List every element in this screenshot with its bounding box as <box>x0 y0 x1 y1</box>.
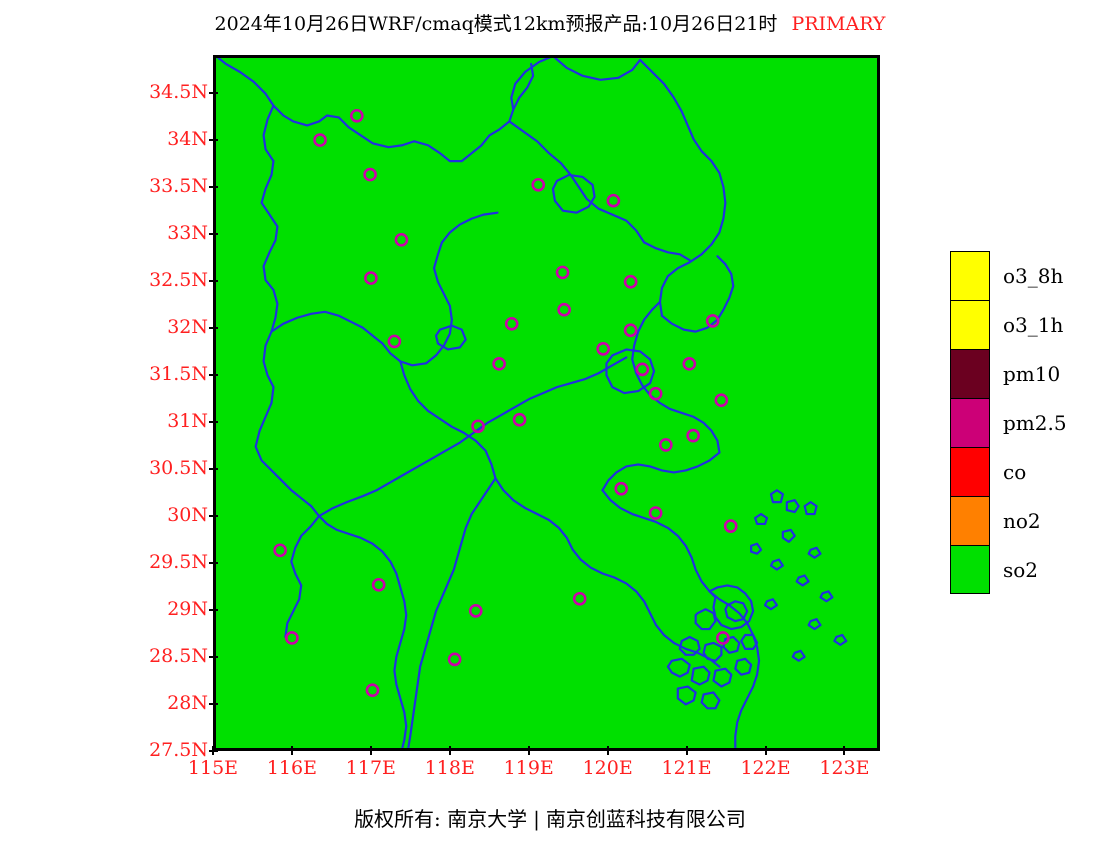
legend-color-swatch <box>950 496 990 545</box>
map-background <box>216 58 877 748</box>
x-axis-tick-mark <box>370 746 372 755</box>
x-axis-tick-mark <box>843 746 845 755</box>
map-svg <box>216 58 877 748</box>
legend-item-o38h[interactable]: o3_8h <box>950 251 1100 300</box>
x-axis-tick-mark <box>607 746 609 755</box>
pollutant-legend[interactable]: o3_8ho3_1hpm10pm2.5cono2so2 <box>950 251 1100 594</box>
footer-right-text: 南京创蓝科技有限公司 <box>546 807 746 831</box>
y-axis-tick-label: 31N <box>136 412 208 431</box>
legend-label: no2 <box>1003 511 1041 531</box>
x-axis-tick-mark <box>686 746 688 755</box>
x-axis-tick-label: 123E <box>799 757 889 779</box>
x-axis-tick-label: 122E <box>721 757 811 779</box>
legend-color-swatch <box>950 398 990 447</box>
x-axis-tick-label: 119E <box>484 757 574 779</box>
x-axis-tick-mark <box>291 746 293 755</box>
y-axis-tick-label: 33N <box>136 224 208 243</box>
map-plot-area[interactable] <box>213 55 880 751</box>
x-axis-tick-mark <box>765 746 767 755</box>
y-axis-tick-label: 30.5N <box>136 459 208 478</box>
legend-item-pm10[interactable]: pm10 <box>950 349 1100 398</box>
y-axis-tick-label: 31.5N <box>136 365 208 384</box>
y-axis-tick-mark <box>209 327 218 329</box>
figure-canvas: 2024年10月26日WRF/cmaq模式12km预报产品:10月26日21时P… <box>0 0 1100 850</box>
y-axis-tick-label: 29N <box>136 600 208 619</box>
y-axis-tick-mark <box>209 92 218 94</box>
y-axis-tick-label: 33.5N <box>136 177 208 196</box>
legend-color-swatch <box>950 545 990 594</box>
legend-label: o3_1h <box>1003 315 1063 335</box>
y-axis-tick-label: 28N <box>136 694 208 713</box>
y-axis-tick-mark <box>209 703 218 705</box>
y-axis-tick-label: 30N <box>136 506 208 525</box>
footer-left-text: 版权所有: 南京大学 <box>354 807 527 831</box>
x-axis-tick-mark <box>528 746 530 755</box>
legend-color-swatch <box>950 300 990 349</box>
y-axis-tick-label: 28.5N <box>136 647 208 666</box>
legend-item-pm25[interactable]: pm2.5 <box>950 398 1100 447</box>
y-axis-tick-mark <box>209 233 218 235</box>
legend-label: so2 <box>1003 560 1038 580</box>
x-axis-tick-label: 118E <box>405 757 495 779</box>
legend-item-co[interactable]: co <box>950 447 1100 496</box>
x-axis-tick-label: 121E <box>642 757 732 779</box>
legend-color-swatch <box>950 447 990 496</box>
legend-item-o31h[interactable]: o3_1h <box>950 300 1100 349</box>
y-axis-tick-label: 32N <box>136 318 208 337</box>
legend-label: o3_8h <box>1003 266 1063 286</box>
y-axis-tick-label: 34.5N <box>136 83 208 102</box>
copyright-footer: 版权所有: 南京大学|南京创蓝科技有限公司 <box>0 806 1100 832</box>
legend-item-so2[interactable]: so2 <box>950 545 1100 594</box>
title-main-text: 2024年10月26日WRF/cmaq模式12km预报产品:10月26日21时 <box>215 13 778 35</box>
y-axis-tick-mark <box>209 374 218 376</box>
legend-label: pm2.5 <box>1003 413 1067 433</box>
y-axis-tick-mark <box>209 139 218 141</box>
y-axis-tick-mark <box>209 562 218 564</box>
x-axis-tick-mark <box>212 746 214 755</box>
x-axis-tick-label: 120E <box>563 757 653 779</box>
y-axis-tick-mark <box>209 280 218 282</box>
footer-separator: | <box>527 806 546 832</box>
legend-label: co <box>1003 462 1026 482</box>
y-axis-tick-label: 29.5N <box>136 553 208 572</box>
y-axis-tick-mark <box>209 186 218 188</box>
y-axis-tick-mark <box>209 609 218 611</box>
legend-color-swatch <box>950 251 990 300</box>
y-axis-tick-label: 32.5N <box>136 271 208 290</box>
x-axis-tick-label: 117E <box>326 757 416 779</box>
y-axis-tick-mark <box>209 468 218 470</box>
y-axis-tick-mark <box>209 515 218 517</box>
y-axis-tick-mark <box>209 656 218 658</box>
y-axis-tick-label: 34N <box>136 130 208 149</box>
x-axis-tick-label: 115E <box>168 757 258 779</box>
y-axis: 34.5N34N33.5N33N32.5N32N31.5N31N30.5N30N… <box>133 0 208 850</box>
legend-color-swatch <box>950 349 990 398</box>
x-axis-tick-mark <box>449 746 451 755</box>
y-axis-tick-mark <box>209 421 218 423</box>
x-axis-tick-label: 116E <box>247 757 337 779</box>
legend-item-no2[interactable]: no2 <box>950 496 1100 545</box>
legend-label: pm10 <box>1003 364 1060 384</box>
x-axis: 115E116E117E118E119E120E121E122E123E <box>0 757 1100 797</box>
title-primary-text: PRIMARY <box>777 13 885 35</box>
